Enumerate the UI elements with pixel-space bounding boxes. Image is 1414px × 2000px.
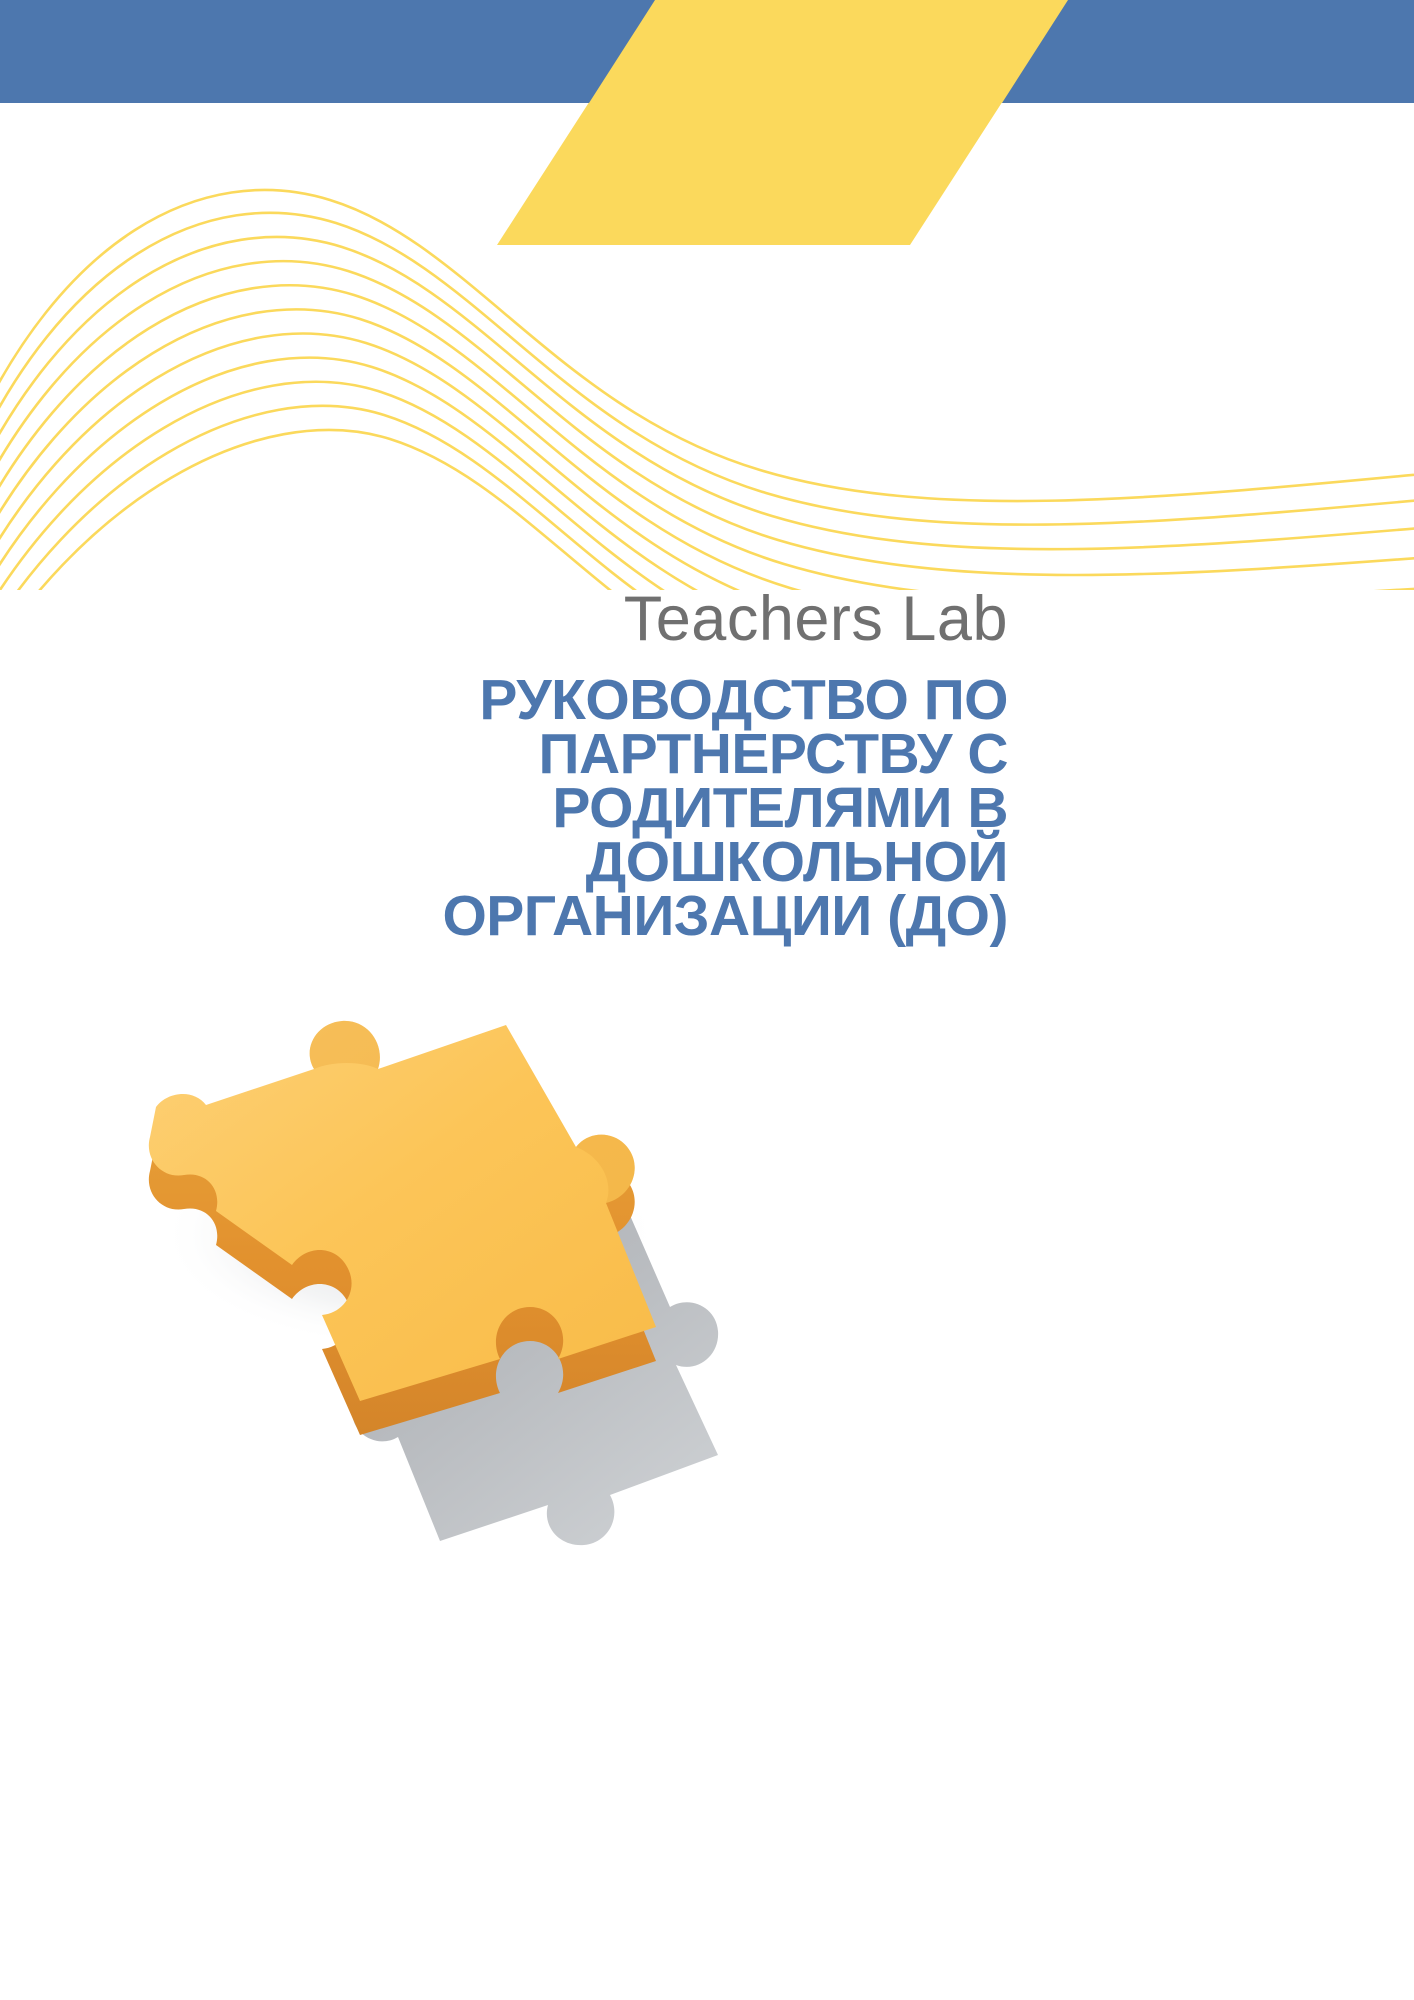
wave-line xyxy=(0,430,1414,590)
wave-line xyxy=(0,406,1414,590)
wave-line xyxy=(0,382,1414,590)
wave-lines-decoration xyxy=(0,110,1414,590)
cover-text-block: Teachers Lab РУКОВОДСТВО ПО ПАРТНЕРСТВУ … xyxy=(430,580,1008,943)
yellow-parallelogram-top-icon xyxy=(589,0,1068,103)
title-line: ПАРТНЕРСТВУ С xyxy=(430,727,1008,781)
cover-title: РУКОВОДСТВО ПО ПАРТНЕРСТВУ С РОДИТЕЛЯМИ … xyxy=(430,673,1008,944)
wave-line xyxy=(0,213,1414,525)
wave-line xyxy=(0,190,1414,501)
puzzle-piece xyxy=(149,1021,656,1435)
publisher-brand: Teachers Lab xyxy=(430,580,1008,659)
title-line: ДОШКОЛЬНОЙ xyxy=(430,835,1008,889)
title-line: РОДИТЕЛЯМИ В xyxy=(430,781,1008,835)
piece-knob-shading xyxy=(310,1021,380,1069)
puzzle-illustration xyxy=(110,935,810,1575)
book-cover: Teachers Lab РУКОВОДСТВО ПО ПАРТНЕРСТВУ … xyxy=(0,0,1414,2000)
wave-line xyxy=(0,261,1414,575)
piece-top-face xyxy=(149,1021,656,1401)
title-line: РУКОВОДСТВО ПО xyxy=(430,673,1008,727)
wave-line xyxy=(0,334,1414,590)
wave-line xyxy=(0,237,1414,549)
